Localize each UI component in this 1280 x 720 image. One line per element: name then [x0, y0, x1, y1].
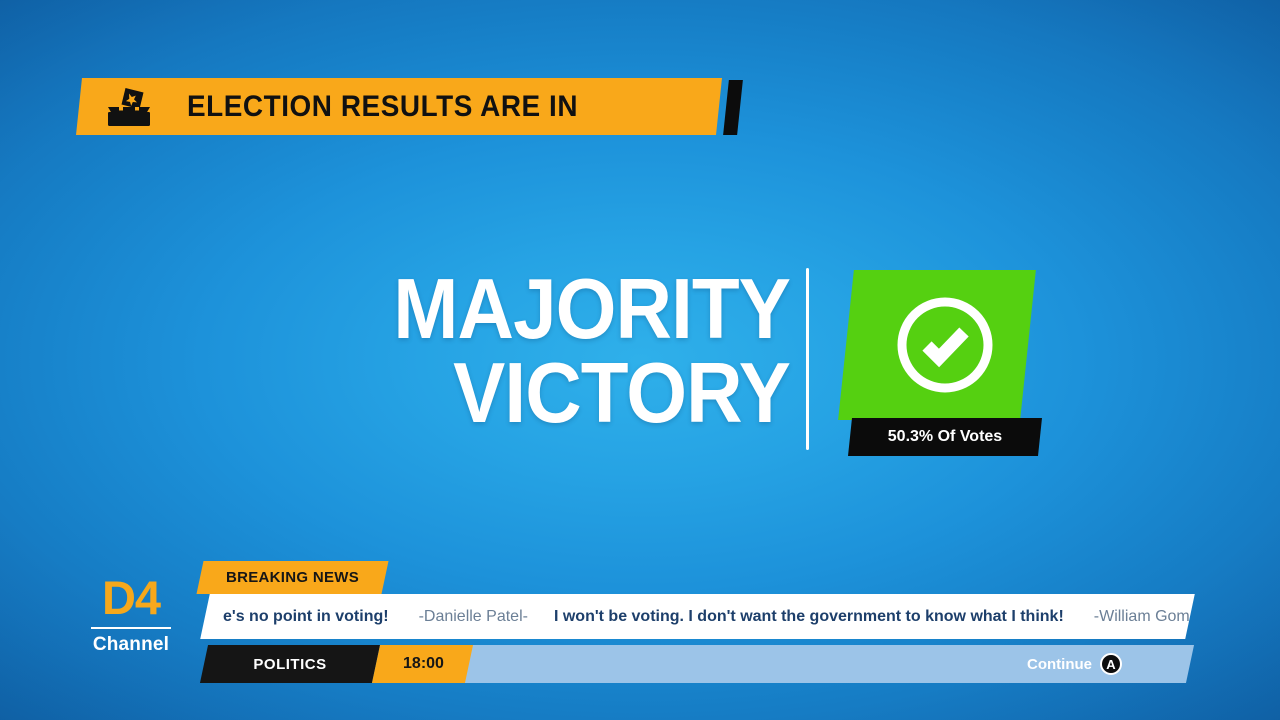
- vote-badge-label: 50.3% Of Votes: [850, 418, 1040, 456]
- breaking-news-tab: BREAKING NEWS: [200, 561, 385, 594]
- time-chip: 18:00: [376, 645, 471, 683]
- result-title: MAJORITY VICTORY: [339, 268, 790, 436]
- circle-check-icon: [892, 292, 998, 398]
- channel-logo: D4 Channel: [86, 574, 176, 656]
- ticker-author: -Danielle Patel-: [419, 608, 528, 626]
- headline-banner: ELECTION RESULTS ARE IN: [79, 78, 719, 135]
- news-ticker-content: e's no point in voting! -Danielle Patel-…: [223, 594, 1190, 639]
- news-ticker: e's no point in voting! -Danielle Patel-…: [205, 594, 1190, 639]
- category-chip: POLITICS: [204, 645, 376, 683]
- time-label: 18:00: [376, 645, 471, 683]
- ticker-meta-row: POLITICS 18:00 Continue A: [204, 645, 1190, 683]
- continue-prompt[interactable]: Continue A: [1027, 645, 1122, 683]
- channel-word: Channel: [86, 634, 176, 656]
- result-title-line1: MAJORITY: [339, 268, 790, 352]
- vote-badge: 50.3% Of Votes: [840, 270, 1040, 455]
- ticker-author: -William Gomez-: [1094, 608, 1190, 626]
- a-button-icon[interactable]: A: [1100, 653, 1122, 675]
- category-label: POLITICS: [204, 645, 376, 683]
- ballot-box-icon: [101, 85, 157, 129]
- breaking-news-tab-label: BREAKING NEWS: [200, 561, 385, 594]
- continue-bar[interactable]: Continue A: [469, 645, 1190, 683]
- result-divider: [806, 268, 809, 450]
- ticker-quote: e's no point in voting!: [223, 608, 389, 626]
- channel-divider: [91, 627, 171, 629]
- continue-label: Continue: [1027, 656, 1092, 673]
- result-title-line2: VICTORY: [339, 352, 790, 436]
- channel-id: D4: [86, 574, 176, 621]
- headline-text: ELECTION RESULTS ARE IN: [187, 90, 578, 124]
- ticker-quote: I won't be voting. I don't want the gove…: [554, 608, 1064, 626]
